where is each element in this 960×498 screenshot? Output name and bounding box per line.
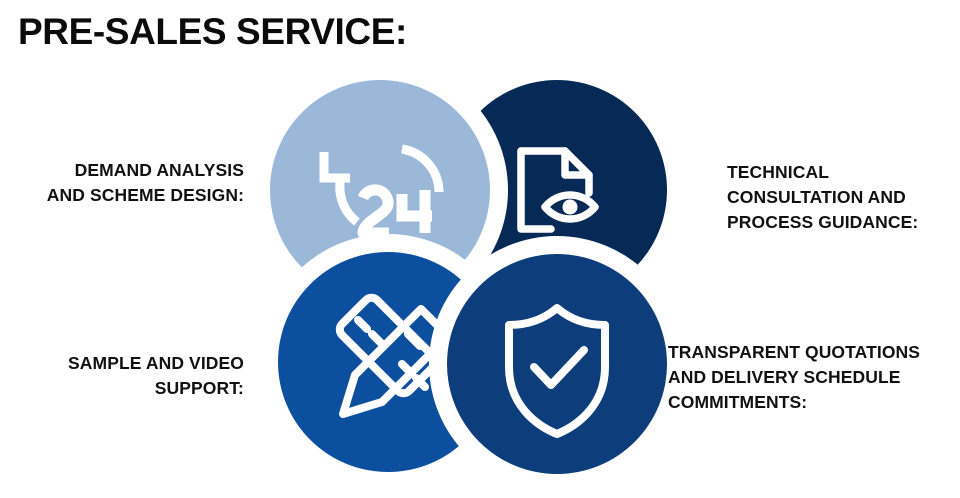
label-technical-consultation: TECHNICAL CONSULTATION AND PROCESS GUIDA… [727,160,960,235]
infographic-root: PRE-SALES SERVICE: [0,0,960,498]
label-sample-video-support: SAMPLE AND VIDEO SUPPORT: [0,351,244,401]
page-title: PRE-SALES SERVICE: [18,8,407,56]
circle-cluster [262,72,682,492]
label-demand-analysis: DEMAND ANALYSIS AND SCHEME DESIGN: [0,158,244,208]
circle-transparent-quotations[interactable] [447,254,667,474]
label-transparent-quotations: TRANSPARENT QUOTATIONS AND DELIVERY SCHE… [668,340,960,415]
